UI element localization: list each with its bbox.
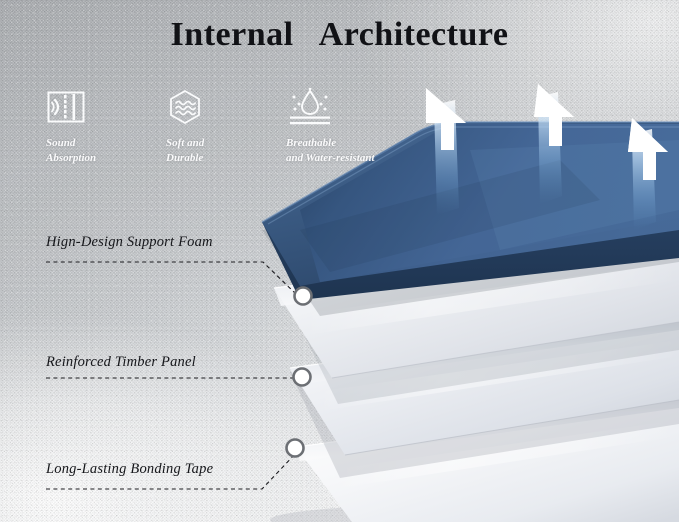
page-title: Internal Architecture xyxy=(0,16,679,54)
callout-label: Reinforced Timber Panel xyxy=(46,354,196,371)
feature-label: Sound Absorption xyxy=(46,136,132,166)
feature-icon-row: Sound Absorption Soft and Durable xyxy=(46,86,416,166)
callout-timber-panel: Reinforced Timber Panel xyxy=(46,354,196,371)
callout-label: Long-Lasting Bonding Tape xyxy=(46,461,213,478)
breathable-water-resistant-icon xyxy=(286,86,416,128)
feature-breathable-water-resistant: Breathable and Water-resistant xyxy=(286,86,416,166)
sound-absorption-icon xyxy=(46,86,132,128)
callout-label: Hign-Design Support Foam xyxy=(46,234,213,251)
feature-soft-durable: Soft and Durable xyxy=(166,86,252,166)
feature-sound-absorption: Sound Absorption xyxy=(46,86,132,166)
callout-support-foam: Hign-Design Support Foam xyxy=(46,234,213,251)
feature-label: Breathable and Water-resistant xyxy=(286,136,416,166)
callout-bonding-tape: Long-Lasting Bonding Tape xyxy=(46,461,213,478)
product-layer-stack xyxy=(0,0,679,522)
soft-durable-icon xyxy=(166,86,252,128)
infographic-canvas: Internal Architecture xyxy=(0,0,679,522)
feature-label: Soft and Durable xyxy=(166,136,252,166)
